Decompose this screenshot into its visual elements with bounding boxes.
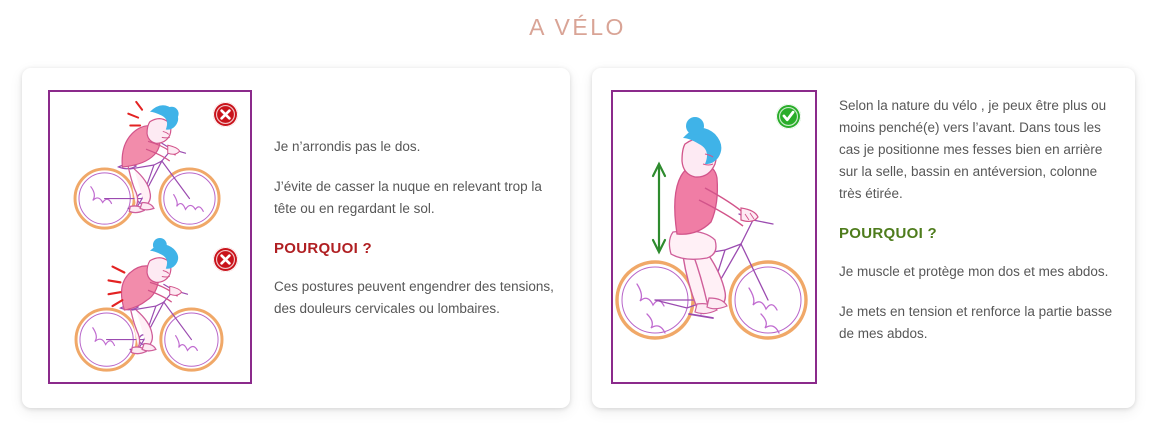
cyclist-good-posture-drawing [613,92,815,382]
why-paragraph-2: Je mets en tension et renforce la partie… [839,301,1119,345]
card-good-posture: Selon la nature du vélo , je peux être p… [592,68,1135,408]
why-paragraph-1: Ces postures peuvent engendrer des tensi… [274,276,554,320]
page-title: A VÉLO [0,14,1155,41]
cross-circle-icon [213,247,238,272]
illustration-frame-good [611,90,817,384]
illustration-frame-bad [48,90,252,384]
cross-circle-icon [213,102,238,127]
check-circle-icon [776,104,801,129]
card-bad-posture: Je n’arrondis pas le dos. J’évite de cas… [22,68,570,408]
why-heading-good: POURQUOI ? [839,223,1119,245]
why-heading-bad: POURQUOI ? [274,238,554,260]
advice-paragraph-1: Je n’arrondis pas le dos. [274,136,554,158]
advice-paragraph-2: J’évite de casser la nuque en relevant t… [274,176,554,220]
text-column-bad: Je n’arrondis pas le dos. J’évite de cas… [252,68,570,320]
spine-elongation-arrow [653,164,665,252]
illustration-cyclist-head-up-bad [50,92,250,237]
page-root: A VÉLO [0,0,1155,430]
advice-paragraph-1: Selon la nature du vélo , je peux être p… [839,95,1119,205]
text-column-good: Selon la nature du vélo , je peux être p… [817,68,1135,345]
illustration-cyclist-neutral-spine-good [613,92,815,382]
illustration-cyclist-rounded-back-bad [50,237,250,382]
why-paragraph-1: Je muscle et protège mon dos et mes abdo… [839,261,1119,283]
